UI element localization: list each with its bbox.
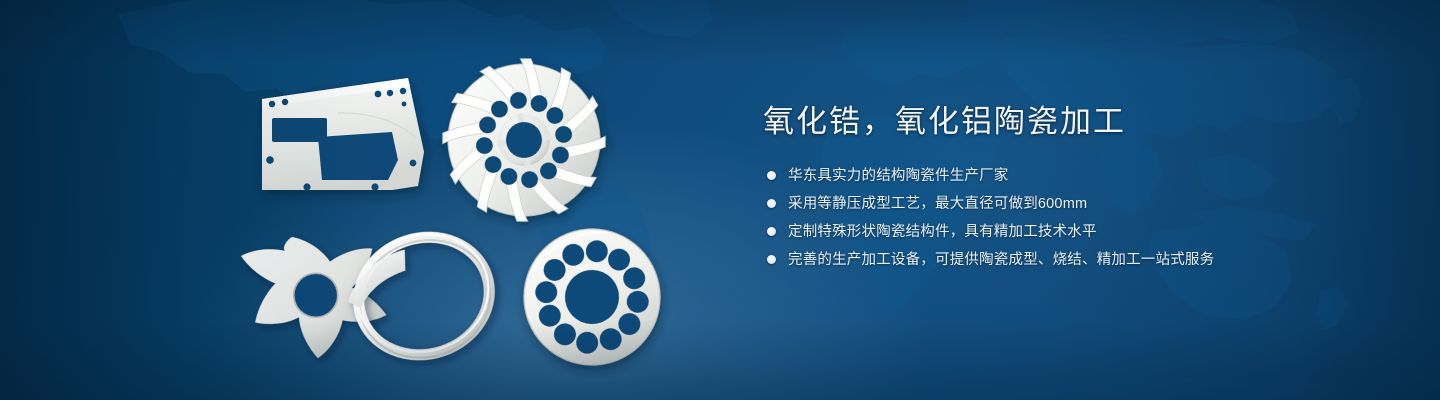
hero-banner: 氧化锆，氧化铝陶瓷加工 华东具实力的结构陶瓷件生产厂家 采用等静压成型工艺，最大… xyxy=(0,0,1440,400)
list-item: 采用等静压成型工艺，最大直径可做到600mm xyxy=(767,194,1363,214)
bullet-text: 华东具实力的结构陶瓷件生产厂家 xyxy=(788,166,1009,186)
ceramic-perforated-disc xyxy=(517,222,666,371)
bullet-text: 采用等静压成型工艺，最大直径可做到600mm xyxy=(788,194,1087,214)
bullet-text: 定制特殊形状陶瓷结构件，具有精加工技术水平 xyxy=(788,222,1097,242)
list-item: 完善的生产加工设备，可提供陶瓷成型、烧结、精加工一站式服务 xyxy=(767,250,1363,270)
ceramic-plate-with-cutouts xyxy=(262,78,424,191)
ceramic-cross-lobed-part xyxy=(239,221,392,369)
bullet-dot-icon xyxy=(767,227,776,236)
banner-feature-list: 华东具实力的结构陶瓷件生产厂家 采用等静压成型工艺，最大直径可做到600mm 定… xyxy=(767,166,1363,270)
bullet-dot-icon xyxy=(767,199,776,208)
ceramic-impeller-vaned-disc xyxy=(429,45,620,236)
bullet-dot-icon xyxy=(767,255,776,264)
list-item: 华东具实力的结构陶瓷件生产厂家 xyxy=(767,166,1363,186)
ceramic-ring xyxy=(335,218,506,377)
banner-copy: 氧化锆，氧化铝陶瓷加工 华东具实力的结构陶瓷件生产厂家 采用等静压成型工艺，最大… xyxy=(763,104,1363,270)
banner-headline: 氧化锆，氧化铝陶瓷加工 xyxy=(763,104,1363,140)
ceramic-products-photo-group xyxy=(0,0,740,400)
list-item: 定制特殊形状陶瓷结构件，具有精加工技术水平 xyxy=(767,222,1363,242)
bullet-text: 完善的生产加工设备，可提供陶瓷成型、烧结、精加工一站式服务 xyxy=(788,250,1214,270)
bullet-dot-icon xyxy=(767,171,776,180)
